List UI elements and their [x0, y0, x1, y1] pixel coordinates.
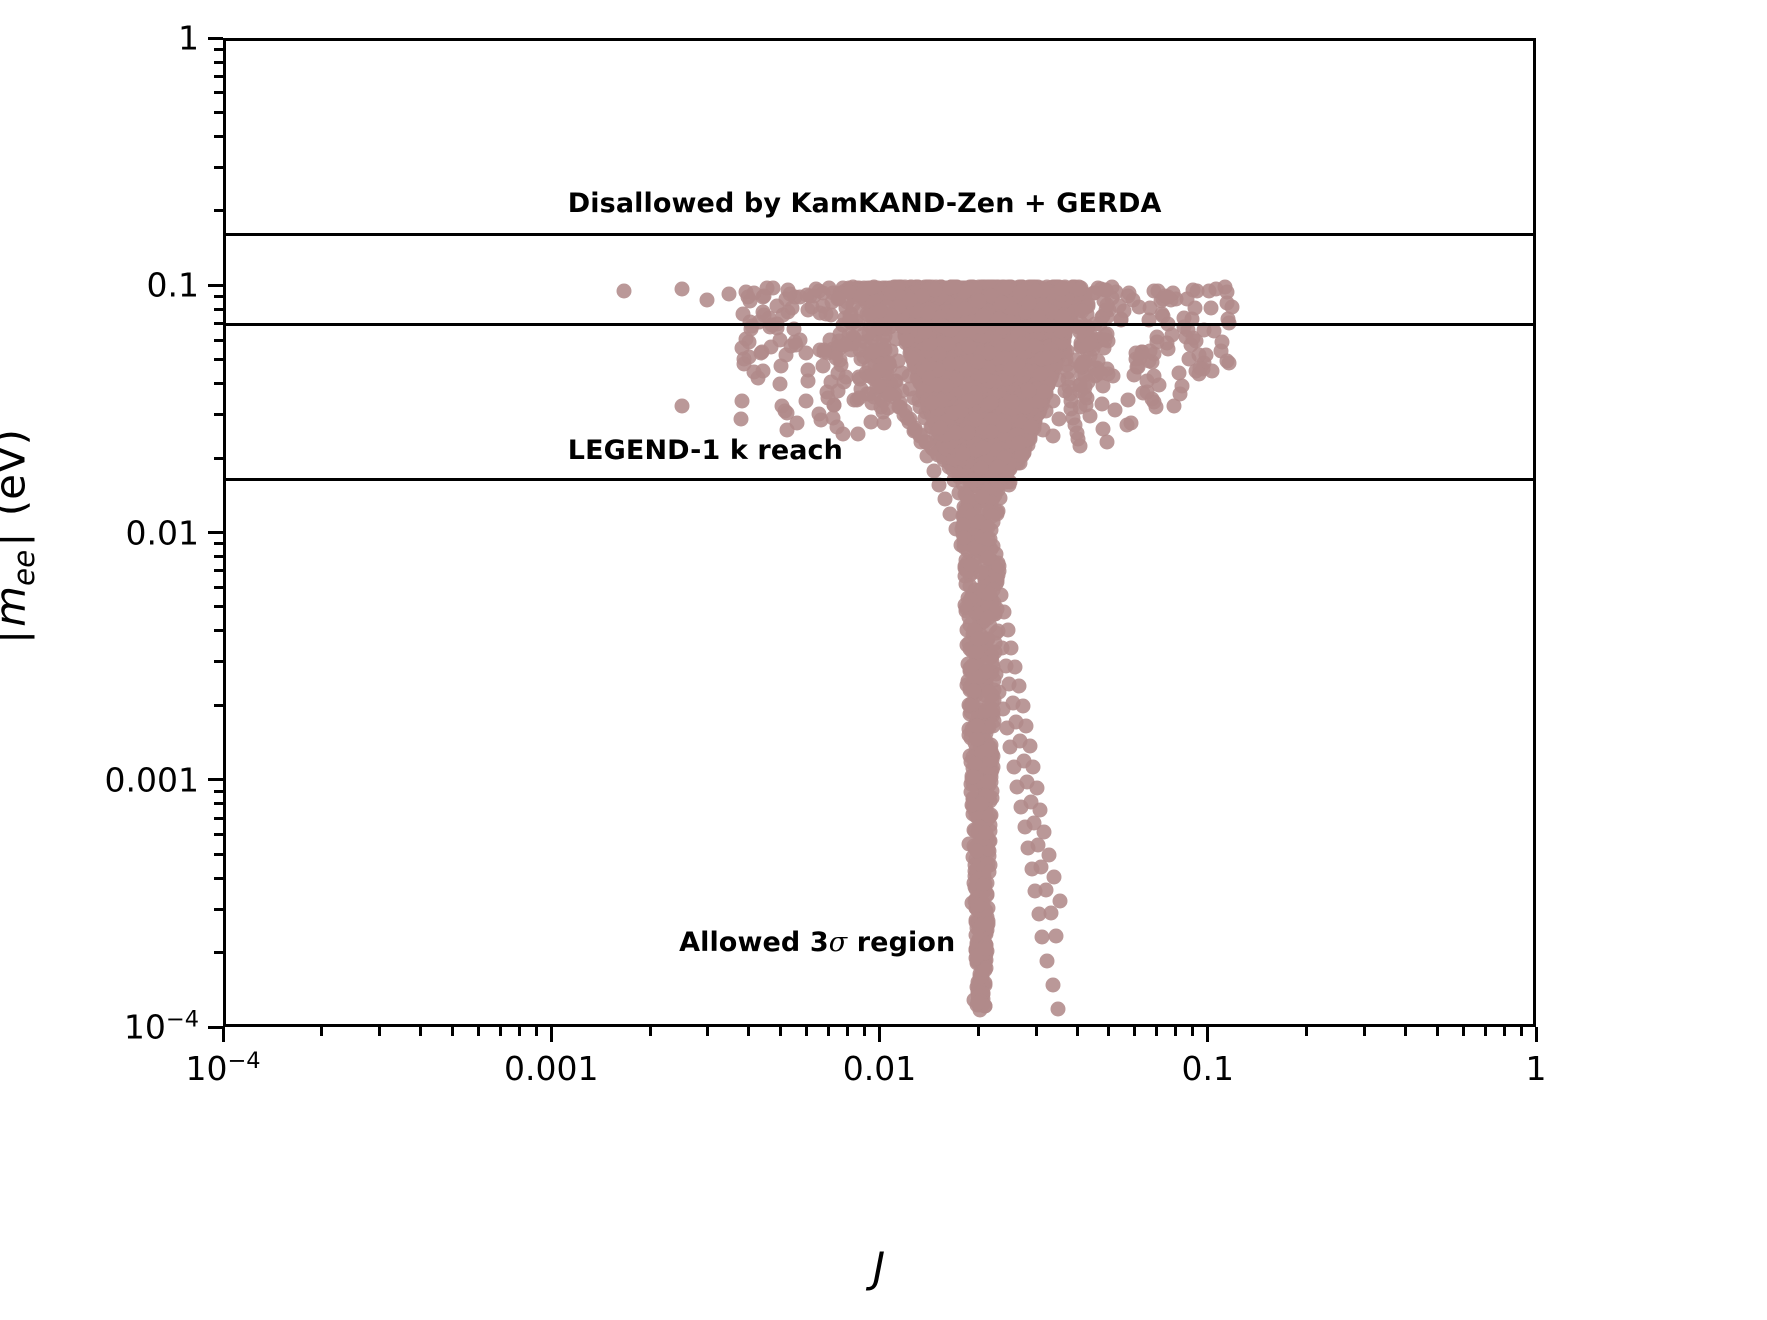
data-point: [1073, 439, 1088, 454]
data-point: [1040, 954, 1055, 969]
y-tick-label: 10−4: [124, 1008, 199, 1047]
data-point: [721, 286, 736, 301]
data-point: [1045, 429, 1060, 444]
data-point: [1026, 759, 1041, 774]
data-point: [1007, 660, 1022, 675]
data-point: [1004, 641, 1019, 656]
data-point: [1034, 930, 1049, 945]
y-tick-label: 0.001: [105, 760, 199, 799]
data-point: [1042, 847, 1057, 862]
y-tick-label: 0.1: [147, 266, 199, 305]
data-point: [675, 282, 690, 297]
y-tick-label: 1: [178, 19, 199, 58]
data-point: [1019, 718, 1034, 733]
data-point: [675, 398, 690, 413]
data-point: [700, 292, 715, 307]
data-point: [1022, 738, 1037, 753]
data-point: [1015, 698, 1030, 713]
y-tick-label: 0.01: [126, 513, 199, 552]
data-point: [1036, 825, 1051, 840]
data-point: [1050, 1001, 1065, 1016]
y-axis-title: |mee| (eV): [0, 429, 35, 647]
plot-area: Disallowed by KamKAND-Zen + GERDALEGEND-…: [223, 38, 1536, 1027]
figure-canvas: |mee| (eV) 10−40.0010.010.11 Disallowed …: [0, 0, 1767, 1320]
data-point: [1047, 870, 1062, 885]
data-point: [1029, 781, 1044, 796]
data-point: [1038, 883, 1053, 898]
data-point: [1049, 929, 1064, 944]
data-point: [1033, 803, 1048, 818]
data-point: [1044, 906, 1059, 921]
data-point: [1034, 860, 1049, 875]
data-point: [1052, 893, 1067, 908]
data-point: [1058, 383, 1073, 398]
data-point: [1011, 679, 1026, 694]
data-point: [616, 284, 631, 299]
data-point: [1052, 412, 1067, 427]
data-point: [1045, 978, 1060, 993]
data-point: [938, 492, 953, 507]
